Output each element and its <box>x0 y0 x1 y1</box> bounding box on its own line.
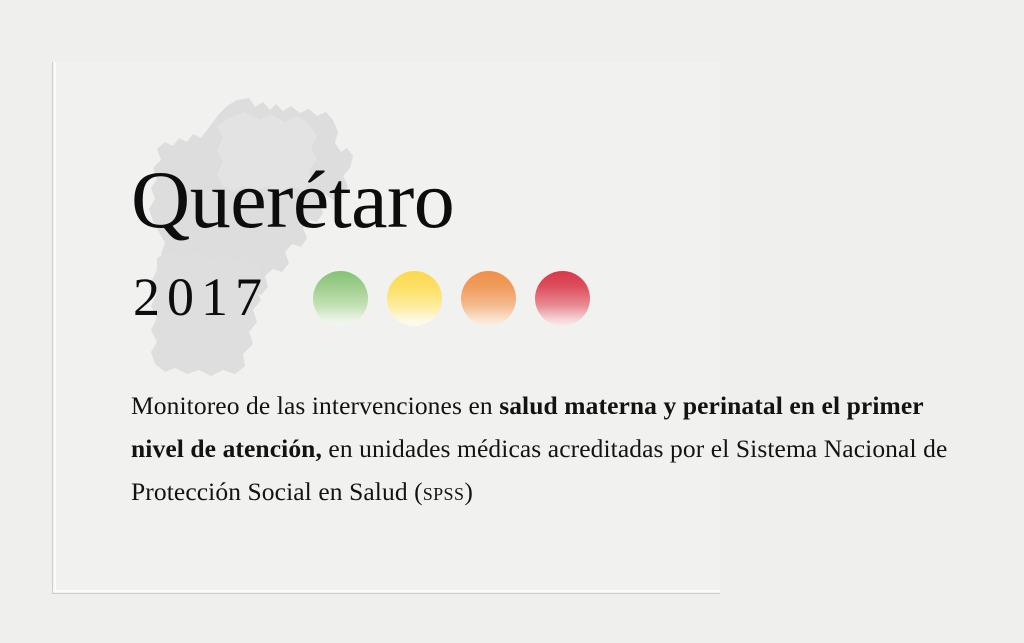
legend-dot-red <box>535 271 590 326</box>
subtitle-part-5: ) <box>464 477 473 506</box>
page-subtitle: Monitoreo de las intervenciones en salud… <box>131 384 961 513</box>
legend-dot-yellow <box>387 271 442 326</box>
title-block: Querétaro <box>131 160 691 240</box>
year-label: 2017 <box>133 270 313 324</box>
left-rule-highlight <box>54 62 56 592</box>
legend-dot-green <box>313 271 368 326</box>
bottom-rule-highlight <box>52 590 720 592</box>
color-legend-dots <box>313 271 590 326</box>
year-and-legend-row: 2017 <box>133 265 590 329</box>
subtitle-acronym-spss: spss <box>423 477 465 506</box>
bottom-rule <box>52 593 720 594</box>
legend-dot-orange <box>461 271 516 326</box>
left-rule <box>52 62 53 594</box>
page-title: Querétaro <box>131 160 691 240</box>
subtitle-part-1: Monitoreo de las intervenciones en <box>131 391 499 420</box>
cover-page: Querétaro 2017 Monitoreo de las interven… <box>0 0 1024 643</box>
